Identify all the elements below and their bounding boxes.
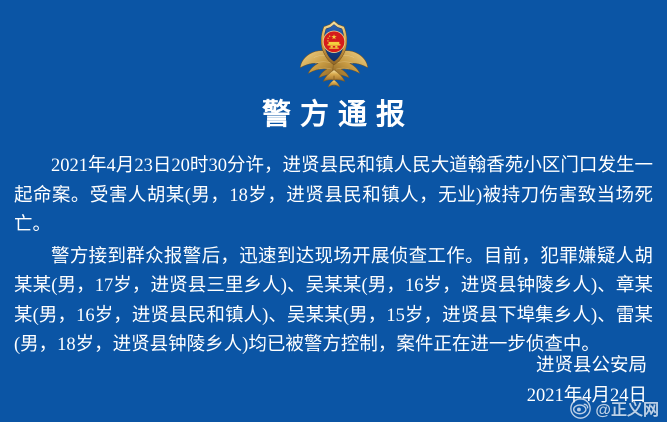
notice-body: 2021年4月23日20时30分许，进贤县民和镇人民大道翰香苑小区门口发生一起命… — [14, 152, 653, 363]
page-title: 警方通报 — [0, 96, 667, 134]
police-notice-poster: 警方通报 2021年4月23日20时30分许，进贤县民和镇人民大道翰香苑小区门口… — [0, 0, 667, 422]
notice-paragraph-1: 2021年4月23日20时30分许，进贤县民和镇人民大道翰香苑小区门口发生一起命… — [14, 152, 653, 241]
notice-paragraph-2: 警方接到群众报警后，迅速到达现场开展侦查工作。目前，犯罪嫌疑人胡某某(男，17岁… — [14, 243, 653, 361]
signature-block: 进贤县公安局 2021年4月24日 — [347, 352, 647, 411]
chinese-police-emblem-icon — [298, 18, 370, 90]
signature-date: 2021年4月24日 — [347, 382, 647, 412]
signature-issuer: 进贤县公安局 — [347, 352, 647, 382]
emblem-container — [0, 16, 667, 92]
